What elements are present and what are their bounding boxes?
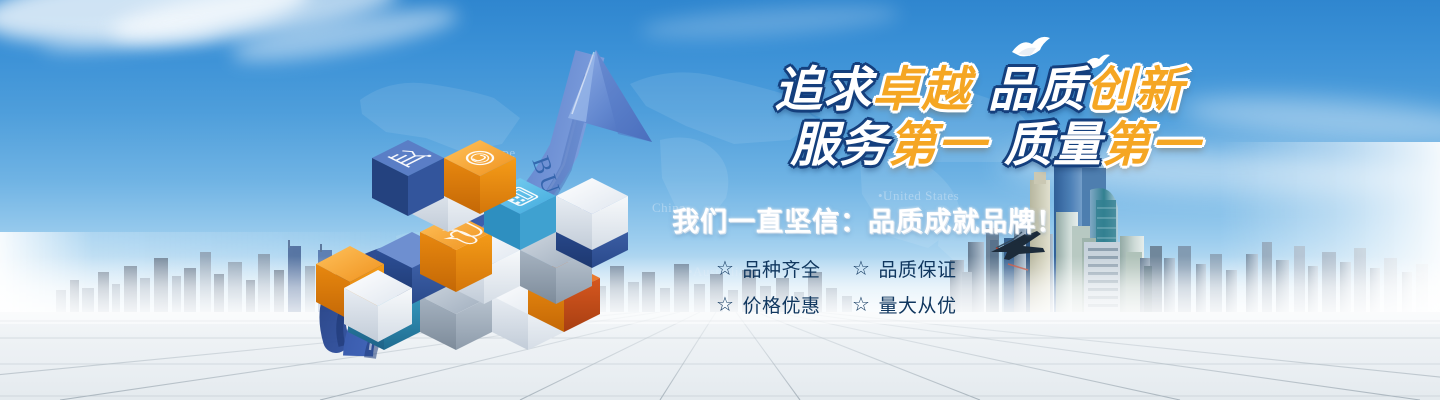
cloud-wisp <box>0 0 312 54</box>
ground-plane <box>0 312 1440 400</box>
hero-graphic: BUSINESS <box>300 10 720 390</box>
headline2-seg-3: 质量 <box>1004 117 1102 173</box>
feature-label: 品质保证 <box>878 255 956 282</box>
feature-item: ☆ 品种齐全 <box>716 255 840 282</box>
dove-icon <box>1008 32 1054 62</box>
cloud-wisp <box>39 19 220 60</box>
copy-block: 追求卓越 品质创新 服务第一 质量第一 我们一直坚信：品质成就品牌！ ☆ 品种齐… <box>672 66 1202 318</box>
headline-seg-2: 卓越 <box>872 62 970 118</box>
headline-seg-4: 创新 <box>1086 62 1184 118</box>
headline-seg-3: 品质 <box>988 62 1086 118</box>
rubiks-cube <box>316 140 628 350</box>
headline-seg-1: 追求 <box>774 62 872 118</box>
headline-line-2: 服务第一 质量第一 <box>672 121 1202 170</box>
star-icon: ☆ <box>716 258 734 278</box>
feature-item: ☆ 品质保证 <box>852 255 976 282</box>
subheadline: 我们一直坚信：品质成就品牌！ <box>672 200 1202 239</box>
headline-line-1: 追求卓越 品质创新 <box>672 66 1202 115</box>
headline-gap <box>970 62 988 118</box>
star-icon: ☆ <box>852 294 870 314</box>
headline2-gap <box>986 117 1004 173</box>
feature-item: ☆ 价格优惠 <box>716 291 840 318</box>
headline2-seg-1: 服务 <box>790 117 888 173</box>
feature-label: 品种齐全 <box>742 255 820 282</box>
headline2-seg-2: 第一 <box>888 117 986 173</box>
star-icon: ☆ <box>852 258 870 278</box>
promo-banner: •Europe •United States China •Australia <box>0 0 1440 400</box>
feature-label: 量大从优 <box>878 291 956 318</box>
feature-label: 价格优惠 <box>742 291 820 318</box>
star-icon: ☆ <box>716 294 734 314</box>
headline2-seg-4: 第一 <box>1102 117 1200 173</box>
cloud-wisp <box>1179 89 1440 151</box>
feature-list: ☆ 品种齐全 ☆ 品质保证 ☆ 价格优惠 ☆ 量大从优 <box>716 255 1202 318</box>
feature-item: ☆ 量大从优 <box>852 291 976 318</box>
